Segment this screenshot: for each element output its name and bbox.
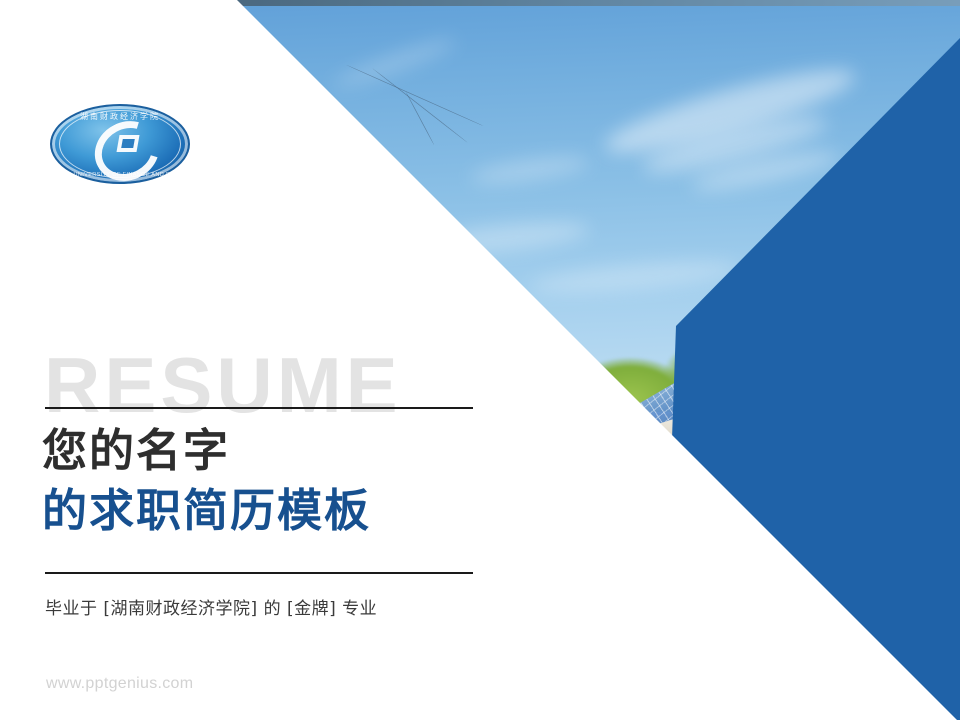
footer-website-url: www.pptgenius.com [46,675,193,693]
resume-cover-slide: 湖南财政经济学院 HUNAN UNIVERSITY OF FINANCE AND… [0,0,960,720]
logo-english-name: HUNAN UNIVERSITY OF FINANCE AND ECONOMIC… [50,172,190,178]
divider-bottom [45,572,473,574]
logo-square-mark-icon [117,135,140,152]
page-title-name: 您的名字 [42,427,230,474]
page-title-template: 的求职简历模板 [42,487,371,534]
divider-top [45,407,473,409]
resume-watermark: RESUME [44,346,402,424]
university-logo: 湖南财政经济学院 HUNAN UNIVERSITY OF FINANCE AND… [50,104,190,184]
logo-chinese-name: 湖南财政经济学院 [50,111,190,122]
graduation-subtitle: 毕业于 [湖南财政经济学院] 的 [金牌] 专业 [45,594,377,619]
slide-content: 湖南财政经济学院 HUNAN UNIVERSITY OF FINANCE AND… [0,0,960,720]
